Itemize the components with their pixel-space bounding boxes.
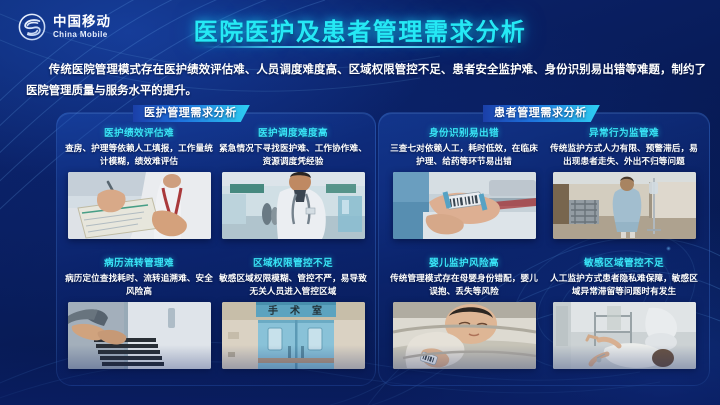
card-title: 敏感区域管控不足: [584, 255, 664, 269]
card-description: 紧急情况下寻找医护难、工作协作难、资源调度凭经验: [219, 142, 367, 168]
card-title: 婴儿监护风险高: [429, 255, 499, 269]
panel-medical-staff: 医护管理需求分析 医护绩效评估难 查房、护理等依赖人工填报，工作量统计模糊，绩效…: [56, 112, 376, 386]
card-title: 医护调度难度高: [258, 125, 328, 139]
card-title: 身份识别易出错: [429, 125, 499, 139]
title-underline: [202, 46, 518, 48]
card-description: 病历定位查找耗时、流转追溯难、安全风险高: [65, 272, 213, 298]
slide-root: 中国移动 China Mobile 医院医护及患者管理需求分析 传统医院管理模式…: [0, 0, 720, 405]
panel-badge-medical-staff: 医护管理需求分析: [133, 105, 250, 122]
card-title: 异常行为监管难: [589, 125, 659, 139]
card-description: 三查七对依赖人工，耗时低效，在临床护理、给药等环节易出错: [387, 142, 541, 168]
card-title: 区域权限管控不足: [253, 255, 333, 269]
operating-room-door-photo: 手术室: [222, 302, 365, 369]
card-item[interactable]: 医护调度难度高 紧急情况下寻找医护难、工作协作难、资源调度凭经验: [219, 125, 367, 251]
card-item[interactable]: 婴儿监护风险高 传统管理模式存在母婴身份错配，婴儿误抱、丢失等风险: [387, 255, 541, 381]
page-subtitle: 传统医院管理模式存在医护绩效评估难、人员调度难度高、区域权限管控不足、患者安全监…: [26, 60, 706, 102]
doctor-in-corridor-photo: [222, 172, 365, 239]
card-item[interactable]: 身份识别易出错 三查七对依赖人工，耗时低效，在临床护理、给药等环节易出错: [387, 125, 541, 251]
patient-fallen-in-bathroom-photo: [553, 302, 696, 369]
doctor-writing-clipboard-photo: [68, 172, 211, 239]
card-item[interactable]: 病历流转管理难 病历定位查找耗时、流转追溯难、安全风险高: [65, 255, 213, 381]
card-description: 敏感区域权限模糊、管控不严，易导致无关人员进入管控区域: [219, 272, 367, 298]
medical-records-cabinet-photo: [68, 302, 211, 369]
card-description: 传统管理模式存在母婴身份错配，婴儿误抱、丢失等风险: [387, 272, 541, 298]
card-item[interactable]: 异常行为监管难 传统监护方式人力有限、预警滞后，易出现患者走失、外出不归等问题: [547, 125, 701, 251]
card-item[interactable]: 区域权限管控不足 敏感区域权限模糊、管控不严，易导致无关人员进入管控区域 手术室: [219, 255, 367, 381]
card-grid-medical-staff: 医护绩效评估难 查房、护理等依赖人工填报，工作量统计模糊，绩效难评估: [57, 125, 375, 381]
panel-badge-patient-management: 患者管理需求分析: [483, 105, 600, 122]
card-item[interactable]: 医护绩效评估难 查房、护理等依赖人工填报，工作量统计模糊，绩效难评估: [65, 125, 213, 251]
card-description: 人工监护方式患者隐私难保障，敏感区域异常滞留等问题时有发生: [547, 272, 701, 298]
card-title: 医护绩效评估难: [104, 125, 174, 139]
patient-walking-with-iv-photo: [553, 172, 696, 239]
panel-patient-management: 患者管理需求分析 身份识别易出错 三查七对依赖人工，耗时低效，在临床护理、给药等…: [378, 112, 710, 386]
card-description: 传统监护方式人力有限、预警滞后，易出现患者走失、外出不归等问题: [547, 142, 701, 168]
card-grid-patient-management: 身份识别易出错 三查七对依赖人工，耗时低效，在临床护理、给药等环节易出错: [379, 125, 709, 381]
card-description: 查房、护理等依赖人工填报，工作量统计模糊，绩效难评估: [65, 142, 213, 168]
newborn-baby-photo: [393, 302, 536, 369]
patient-wristband-photo: [393, 172, 536, 239]
card-title: 病历流转管理难: [104, 255, 174, 269]
card-item[interactable]: 敏感区域管控不足 人工监护方式患者隐私难保障，敏感区域异常滞留等问题时有发生: [547, 255, 701, 381]
page-title: 医院医护及患者管理需求分析: [0, 12, 720, 47]
